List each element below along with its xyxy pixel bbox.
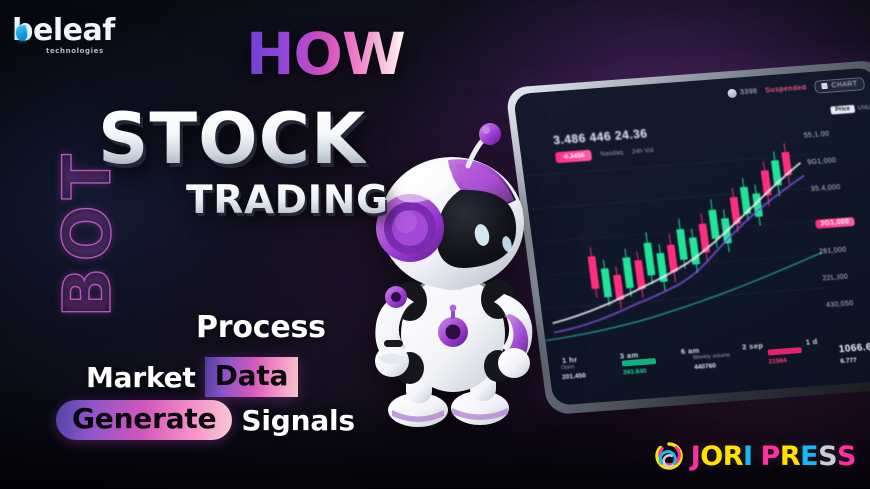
stat-item: 393.840 (621, 358, 657, 376)
tablet-screen: 3398 Suspended CHART 3.486 446 24.36 -0.… (513, 67, 870, 405)
stat-item: 21564 (767, 347, 803, 365)
stat-item: 1066.68.636 6.777 (838, 340, 870, 365)
stat-value: 201.450 (562, 372, 586, 381)
stat-item: Weekly volume 440760 (693, 352, 732, 371)
stat-bar-up (621, 358, 656, 367)
jori-letter: P (761, 443, 780, 470)
y-axis-tick: 281,000 (819, 243, 870, 255)
beleaf-logo[interactable]: beleaf technologies (12, 16, 115, 55)
coin-value: 3398 (740, 88, 758, 96)
feature-generate-chip: Generate (56, 400, 232, 440)
y-axis-tick: 430,050 (826, 297, 870, 309)
feature-row-process: Process (196, 310, 326, 345)
stat-big-value: 1066.68.636 (838, 340, 870, 355)
stat-value: 393.840 (623, 367, 658, 376)
jori-letter: R (723, 443, 743, 470)
y-axis-chip-label: USD (858, 105, 870, 112)
feature-row-generate-signals: Generate Signals (56, 400, 355, 440)
beleaf-wordmark-text: beleaf (12, 13, 115, 48)
status-badge: Suspended (765, 84, 807, 94)
stat-label: Open (561, 363, 585, 371)
y-axis-tick: 9G1,000 (807, 154, 870, 166)
jori-press-wordmark: J O R I P R E S S (691, 443, 856, 470)
feature-process-label: Process (196, 310, 326, 345)
coin-icon (727, 88, 737, 98)
chart-button[interactable]: CHART (814, 77, 866, 94)
beleaf-wordmark: beleaf (12, 16, 115, 46)
jori-letter: S (837, 443, 856, 470)
jori-press-logo[interactable]: J O R I P R E S S (654, 441, 856, 471)
y-axis-chip-badge: Price (830, 105, 856, 115)
y-axis-tick-highlight: 3G1,000 (815, 217, 855, 229)
jori-swirl-icon (654, 441, 684, 471)
feature-row-market-data: Market Data (86, 357, 298, 397)
stat-value: 21564 (768, 356, 803, 365)
beleaf-tagline: technologies (46, 47, 104, 55)
feature-market-label: Market (86, 361, 196, 394)
jori-letter: I (743, 443, 753, 470)
feature-signals-label: Signals (241, 404, 355, 437)
thumbnail-canvas: 3398 Suspended CHART 3.486 446 24.36 -0.… (0, 0, 870, 489)
coin-indicator: 3398 (727, 87, 758, 98)
stat-item: Open 201.450 (561, 363, 587, 381)
jori-letter: S (818, 443, 837, 470)
stat-bar-down (767, 347, 802, 356)
feature-data-chip: Data (205, 357, 299, 397)
y-axis-tick: 35.4,000 (810, 181, 870, 193)
jori-letter: O (700, 443, 722, 470)
jori-letter: J (691, 443, 701, 470)
chart-button-label: CHART (831, 80, 858, 89)
stat-label: Weekly volume (693, 352, 731, 361)
feature-rows: Process Market Data Generate Signals (0, 0, 430, 489)
chart-icon (821, 83, 828, 89)
y-axis-chip: Price USD (830, 104, 870, 115)
stat-value: 440760 (694, 361, 732, 371)
jori-letter: E (800, 443, 818, 470)
jori-letter: R (780, 443, 800, 470)
stat-value: 6.777 (840, 354, 870, 365)
y-axis-tick: 22L,I00 (822, 270, 870, 282)
